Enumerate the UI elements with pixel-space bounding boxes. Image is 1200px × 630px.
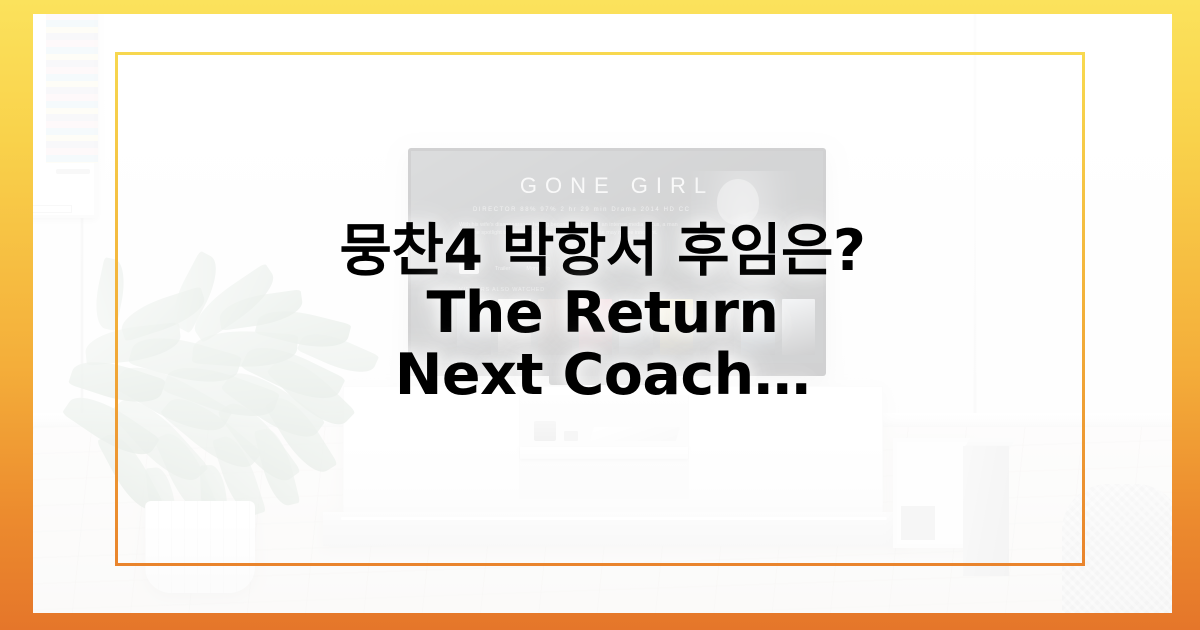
artwork-signature: [56, 169, 90, 174]
page-title: 뭉찬4 박항서 후임은? The Return Next Coach…: [33, 220, 1172, 406]
knitted-pouf: [1062, 484, 1172, 613]
speaker-tower: [963, 446, 1009, 576]
console-shelf: [520, 447, 688, 459]
console-plinth: [323, 512, 905, 546]
console-device-box: [534, 421, 556, 441]
artwork-stripes: [46, 14, 98, 163]
artwork-plate: [33, 205, 72, 213]
console-bay: [519, 395, 689, 499]
tv-meta-line: DIRECTOR 88% 97% 2 hr 29 min Drama 2014 …: [473, 207, 691, 213]
photo-plate: GONE GIRL DIRECTOR 88% 97% 2 hr 29 min D…: [33, 14, 1172, 613]
plant-pot: [145, 501, 255, 593]
pouf-knit-texture: [1062, 484, 1172, 613]
console-disc-player: [590, 427, 680, 441]
open-graph-card: GONE GIRL DIRECTOR 88% 97% 2 hr 29 min D…: [0, 0, 1200, 630]
side-shelf: [893, 438, 971, 548]
framed-artwork: [33, 14, 97, 218]
shelf-box: [901, 506, 935, 540]
console-small-device: [564, 431, 578, 441]
